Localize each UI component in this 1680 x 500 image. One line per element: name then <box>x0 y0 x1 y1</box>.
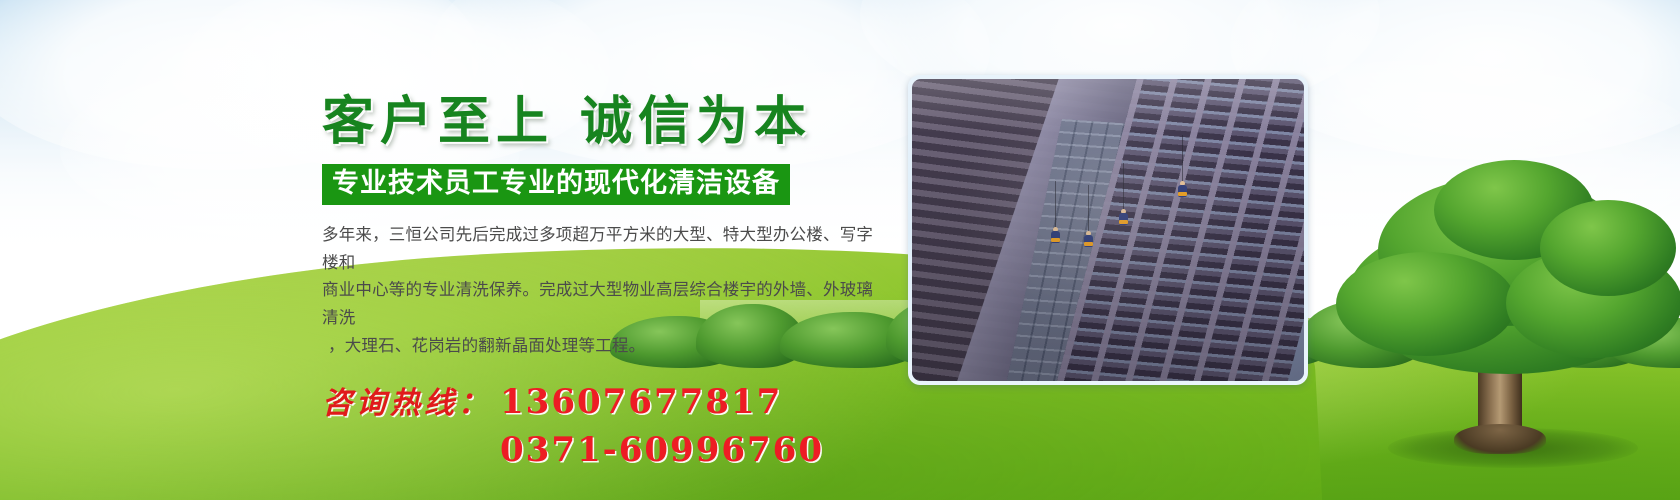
headline-phrase-right: 诚信为本 <box>580 91 812 152</box>
photo-vignette <box>912 79 1304 381</box>
phone-number-primary[interactable]: 13607677817 <box>500 382 782 422</box>
hotline-label: 咨询热线： <box>322 386 492 421</box>
building-photo <box>912 79 1304 381</box>
promo-banner: 客户至上诚信为本 专业技术员工专业的现代化清洁设备 多年来，三恒公司先后完成过多… <box>0 0 1680 500</box>
tree-canopy <box>1540 200 1676 296</box>
tree-canopy <box>1336 252 1516 356</box>
description-line-3: ，大理石、花岗岩的翻新晶面处理等工程。 <box>322 332 882 360</box>
tree-illustration <box>1330 160 1680 490</box>
phone-number-secondary[interactable]: 0371-60996760 <box>500 430 902 470</box>
headline-phrase-left: 客户至上 <box>322 91 554 152</box>
description-paragraph: 多年来，三恒公司先后完成过多项超万平方米的大型、特大型办公楼、写字楼和 商业中心… <box>322 221 882 360</box>
hotline-block: 咨询热线：13607677817 0371-60996760 <box>322 378 902 470</box>
description-line-1: 多年来，三恒公司先后完成过多项超万平方米的大型、特大型办公楼、写字楼和 <box>322 221 882 276</box>
page-title: 客户至上诚信为本 <box>322 96 902 148</box>
description-line-2: 商业中心等的专业清洗保养。完成过大型物业高层综合楼宇的外墙、外玻璃清洗 <box>322 276 882 331</box>
banner-text-column: 客户至上诚信为本 专业技术员工专业的现代化清洁设备 多年来，三恒公司先后完成过多… <box>322 96 902 470</box>
building-photo-card <box>908 75 1308 385</box>
subtitle-banner: 专业技术员工专业的现代化清洁设备 <box>322 164 790 205</box>
